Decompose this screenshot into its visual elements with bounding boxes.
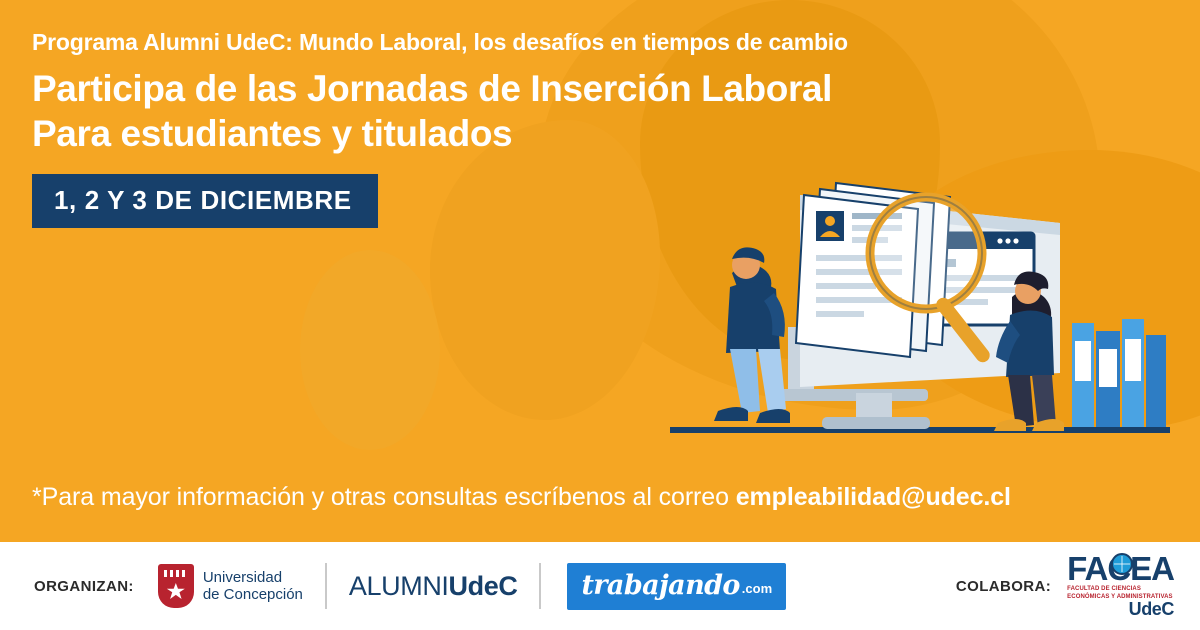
facea-udec-text: UdeC [1067,599,1174,620]
info-line: *Para mayor información y otras consulta… [32,483,1011,512]
footer-logos-bar: ORGANIZAN: Universidad de Concepción ALU… [0,542,1200,630]
udec-shield-icon [158,564,194,608]
alumni-light-text: ALUMNI [349,571,449,601]
udec-name-line1: Universidad [203,569,303,586]
udec-logo: Universidad de Concepción [134,564,303,608]
facea-logo: FACEA FACULTAD DE CIENCIAS ECONÓMICAS Y … [1067,552,1174,620]
colabora-label: COLABORA: [956,578,1051,595]
job-search-illustration [660,155,1180,455]
organizan-label: ORGANIZAN: [34,578,134,595]
trabajando-word: trabajando [581,572,739,599]
trabajando-com: .com [742,580,772,598]
alumni-udec-logo: ALUMNIUdeC [349,571,518,602]
facea-sub-line1: FACULTAD DE CIENCIAS [1067,586,1174,594]
person-walking-left [714,247,790,423]
title-line-1: Participa de las Jornadas de Inserción L… [32,66,732,111]
alumni-bold-text: UdeC [449,571,518,601]
headline-block: Programa Alumni UdeC: Mundo Laboral, los… [32,28,732,228]
background-blob-e [300,250,440,450]
info-text: *Para mayor información y otras consulta… [32,483,736,511]
kicker-text: Programa Alumni UdeC: Mundo Laboral, los… [32,28,732,58]
udec-name-line2: de Concepción [203,586,303,603]
date-badge: 1, 2 Y 3 DE DICIEMBRE [32,174,378,228]
facea-word: FACEA [1067,552,1174,585]
footer-divider-1 [325,563,327,609]
globe-icon [1111,553,1133,575]
footer-divider-2 [539,563,541,609]
trabajando-logo: trabajando .com [567,563,786,610]
contact-email: empleabilidad@udec.cl [736,483,1011,511]
binder-shelf [1072,319,1166,427]
title-line-2: Para estudiantes y titulados [32,111,732,156]
